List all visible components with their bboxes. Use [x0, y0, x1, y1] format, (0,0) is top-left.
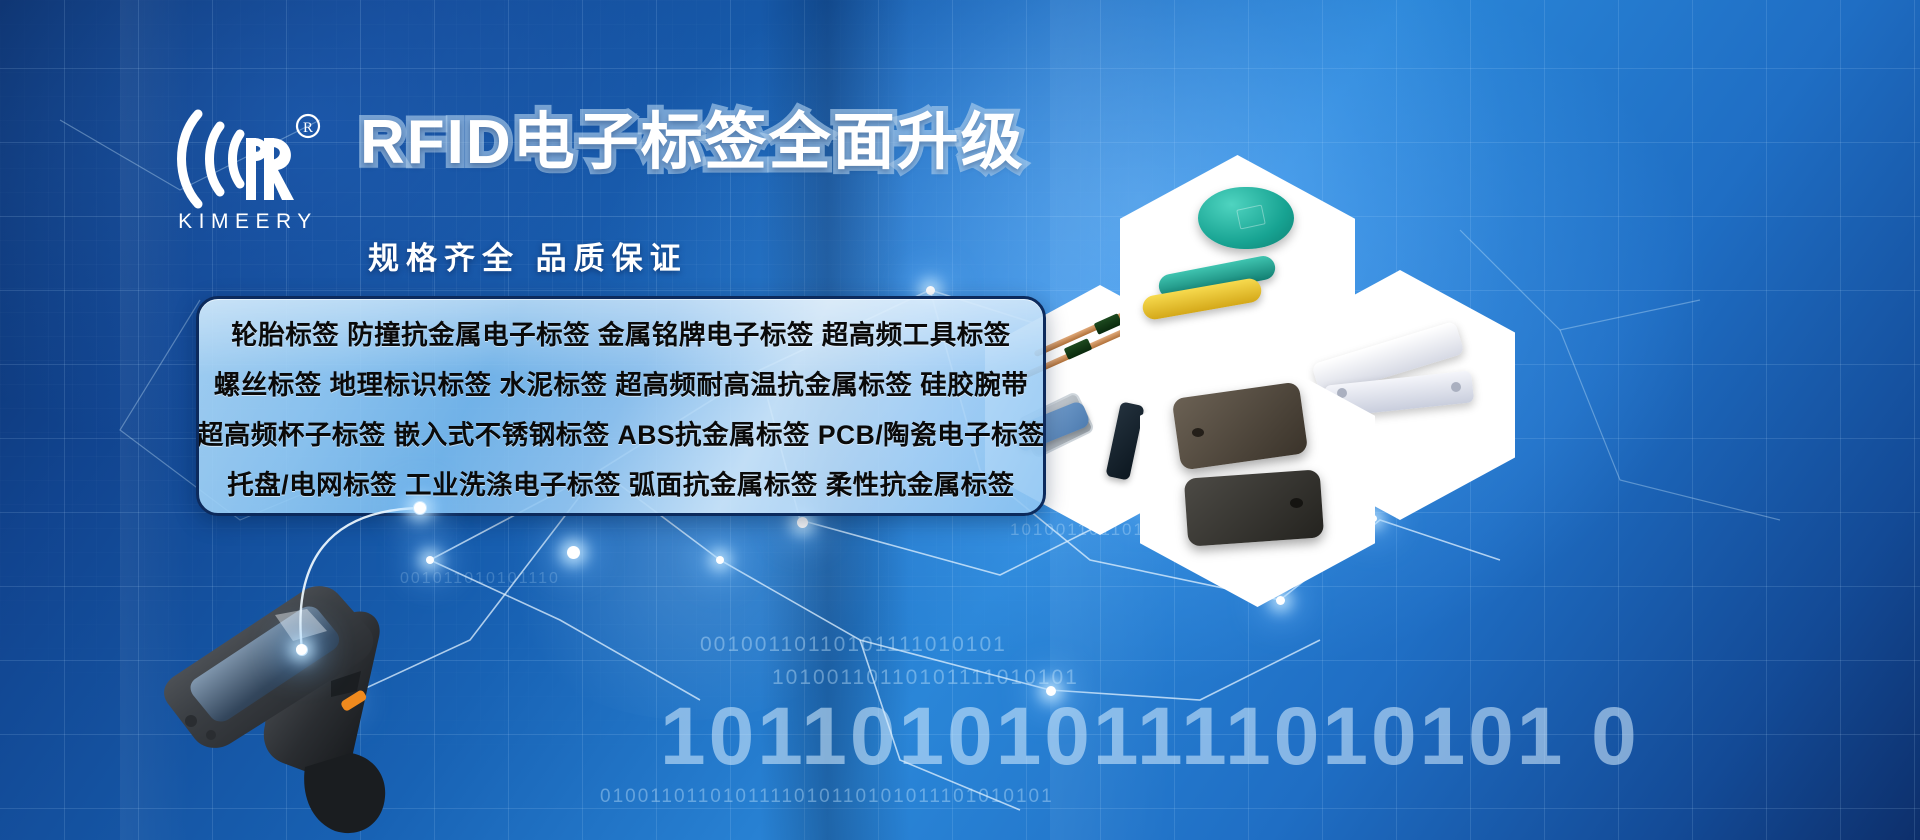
network-node	[716, 556, 724, 564]
dark-brown-tag	[1172, 381, 1309, 470]
network-node	[1276, 596, 1285, 605]
binary-decoration: 00100110110101111010101	[700, 633, 1007, 657]
network-node	[567, 546, 580, 559]
page-title: RFID电子标签全面升级	[360, 108, 1025, 177]
tag-category-row: 托盘/电网标签 工业洗涤电子标签 弧面抗金属标签 柔性抗金属标签	[199, 457, 1043, 507]
tag-category-panel: 轮胎标签 防撞抗金属电子标签 金属铭牌电子标签 超高频工具标签 螺丝标签 地理标…	[196, 296, 1046, 516]
reader-base	[304, 753, 385, 833]
binary-decoration-large: 1011010101111010101 0	[660, 690, 1640, 784]
dark-grey-tag-hole	[1290, 498, 1303, 508]
dark-brown-tag-hole	[1192, 428, 1204, 437]
dark-grey-tag	[1184, 469, 1324, 546]
brand-wordmark: KIMEERY	[168, 210, 328, 234]
rfid-promo-banner: 001011010101110 0101101010111010101 1010…	[0, 0, 1920, 840]
reader-side-button	[185, 715, 197, 727]
tag-category-row: 螺丝标签 地理标识标签 水泥标签 超高频耐高温抗金属标签 硅胶腕带	[199, 357, 1043, 407]
handheld-rfid-reader	[155, 495, 425, 840]
kimeery-signal-logo-icon: R	[168, 104, 328, 214]
svg-text:R: R	[303, 120, 313, 136]
network-node	[1046, 686, 1056, 696]
reader-side-button	[206, 730, 216, 740]
network-node	[426, 556, 434, 564]
page-subtitle: 规格齐全 品质保证	[368, 233, 688, 278]
black-bar-tag	[1105, 401, 1144, 480]
network-node	[926, 286, 935, 295]
tag-category-row: 轮胎标签 防撞抗金属电子标签 金属铭牌电子标签 超高频工具标签	[199, 307, 1043, 357]
binary-decoration: 10100110110101111010101	[772, 666, 1079, 690]
tag-category-row: 超高频杯子标签 嵌入式不锈钢标签 ABS抗金属标签 PCB/陶瓷电子标签	[199, 407, 1043, 457]
white-tag-slot	[1451, 382, 1461, 392]
binary-decoration: 0100110110101111010110101011101010101	[600, 786, 1054, 808]
network-node	[797, 517, 808, 528]
